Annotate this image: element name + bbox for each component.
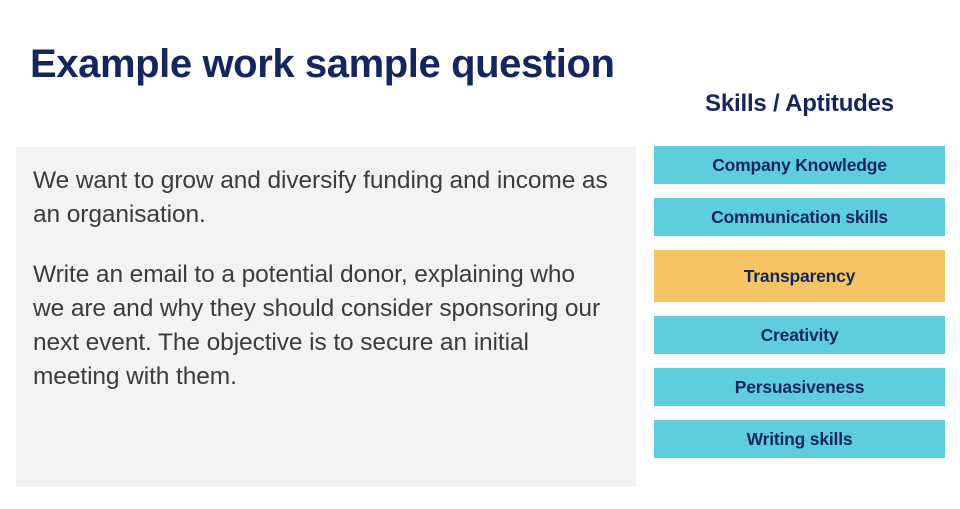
question-paragraph-2: Write an email to a potential donor, exp… <box>33 258 610 394</box>
skill-pill-label: Persuasiveness <box>735 377 865 398</box>
skill-pill-label: Transparency <box>744 266 855 287</box>
skills-column: Skills / Aptitudes Company Knowledge Com… <box>654 88 945 458</box>
slide-canvas: Example work sample question We want to … <box>0 0 960 509</box>
skill-pill-transparency[interactable]: Transparency <box>654 250 945 302</box>
skill-pill-persuasiveness[interactable]: Persuasiveness <box>654 368 945 406</box>
skill-pill-label: Communication skills <box>711 207 888 228</box>
question-panel: We want to grow and diversify funding an… <box>16 147 636 487</box>
skill-pill-company-knowledge[interactable]: Company Knowledge <box>654 146 945 184</box>
skill-pill-label: Writing skills <box>747 429 853 450</box>
skill-pill-label: Creativity <box>761 325 839 346</box>
question-paragraph-1: We want to grow and diversify funding an… <box>33 164 610 232</box>
skills-heading: Skills / Aptitudes <box>654 88 945 120</box>
skill-pill-writing-skills[interactable]: Writing skills <box>654 420 945 458</box>
page-title: Example work sample question <box>30 39 730 89</box>
skill-pill-communication-skills[interactable]: Communication skills <box>654 198 945 236</box>
skill-pill-creativity[interactable]: Creativity <box>654 316 945 354</box>
skill-pill-label: Company Knowledge <box>712 155 887 176</box>
